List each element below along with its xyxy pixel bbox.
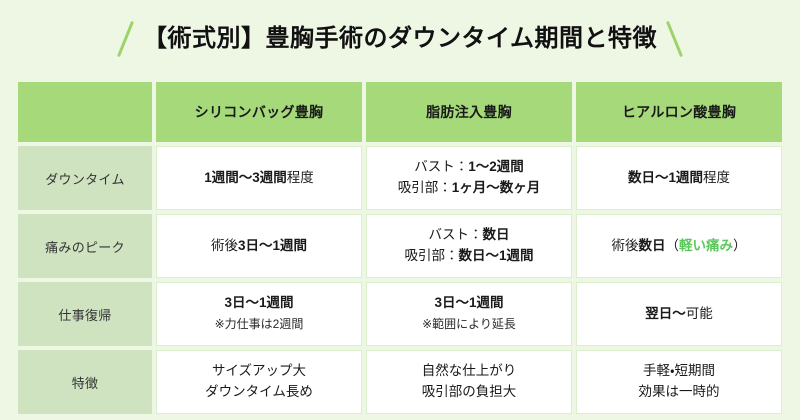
- column-header-2: 脂肪注入豊胸: [366, 82, 572, 142]
- cell-strong-text: 3日〜1週間: [434, 295, 503, 310]
- cell-note-text: ※範囲により延長: [422, 317, 516, 331]
- decorative-slash-left-icon: [117, 21, 134, 57]
- cell-line: ※範囲により延長: [367, 314, 571, 335]
- row-label-1: ダウンタイム: [18, 146, 152, 210]
- table-header: シリコンバッグ豊胸 脂肪注入豊胸 ヒアルロン酸豊胸: [18, 82, 782, 142]
- cell-line: 手軽・短期間: [577, 361, 781, 382]
- table-cell-r3-c1: 3日〜1週間※力仕事は2週間: [156, 282, 362, 346]
- cell-line: 翌日〜可能: [577, 304, 781, 325]
- cell-line: バスト：1〜2週間: [367, 157, 571, 178]
- cell-line: サイズアップ大: [157, 361, 361, 382]
- cell-plain-text: 程度: [287, 170, 314, 185]
- column-header-3: ヒアルロン酸豊胸: [576, 82, 782, 142]
- cell-strong-text: 数日〜1週間: [628, 170, 703, 185]
- cell-strong-text: 数日〜1週間: [458, 248, 533, 263]
- cell-plain-text: 程度: [703, 170, 730, 185]
- cell-strong-text: 数日: [639, 238, 666, 253]
- table-header-row: シリコンバッグ豊胸 脂肪注入豊胸 ヒアルロン酸豊胸: [18, 82, 782, 142]
- table-corner-cell: [18, 82, 152, 142]
- table-cell-r3-c3: 翌日〜可能: [576, 282, 782, 346]
- cell-line: ※力仕事は2週間: [157, 314, 361, 335]
- cell-line: 吸引部：数日〜1週間: [367, 246, 571, 267]
- cell-plain-text: 吸引部の負担大: [422, 384, 517, 399]
- table-cell-r1-c2: バスト：1〜2週間吸引部：1ヶ月〜数ヶ月: [366, 146, 572, 210]
- cell-strong-text: 3日〜1週間: [224, 295, 293, 310]
- comparison-table-wrapper: シリコンバッグ豊胸 脂肪注入豊胸 ヒアルロン酸豊胸 ダウンタイム1週間〜3週間程…: [14, 78, 786, 418]
- table-cell-r3-c2: 3日〜1週間※範囲により延長: [366, 282, 572, 346]
- table-cell-r4-c2: 自然な仕上がり吸引部の負担大: [366, 350, 572, 414]
- cell-lead-text: 術後: [211, 238, 238, 253]
- table-cell-r2-c2: バスト：数日吸引部：数日〜1週間: [366, 214, 572, 278]
- cell-lead-text: バスト：: [429, 227, 483, 242]
- cell-line: 術後数日（軽い痛み）: [577, 236, 781, 257]
- cell-strong-text: 数日: [483, 227, 510, 242]
- decorative-slash-right-icon: [666, 21, 683, 57]
- cell-strong-text: 1〜2週間: [468, 159, 524, 174]
- cell-strong-text: 翌日〜: [645, 306, 686, 321]
- cell-strong-text: 1週間〜3週間: [204, 170, 287, 185]
- cell-paren-close: ）: [733, 238, 747, 253]
- row-label-4: 特徴: [18, 350, 152, 414]
- cell-lead-text: 吸引部：: [404, 248, 458, 263]
- cell-accent-text: 軽い痛み: [679, 238, 733, 253]
- comparison-table: シリコンバッグ豊胸 脂肪注入豊胸 ヒアルロン酸豊胸 ダウンタイム1週間〜3週間程…: [14, 78, 786, 418]
- table-row: 痛みのピーク術後3日〜1週間バスト：数日吸引部：数日〜1週間術後数日（軽い痛み）: [18, 214, 782, 278]
- cell-plain-text: 自然な仕上がり: [422, 363, 517, 378]
- cell-plain-text: サイズアップ大: [212, 363, 306, 378]
- column-header-1: シリコンバッグ豊胸: [156, 82, 362, 142]
- cell-lead-text: 吸引部：: [398, 180, 452, 195]
- cell-line: ダウンタイム長め: [157, 382, 361, 403]
- table-cell-r2-c1: 術後3日〜1週間: [156, 214, 362, 278]
- row-label-3: 仕事復帰: [18, 282, 152, 346]
- cell-plain-text: 効果は一時的: [639, 384, 720, 399]
- cell-line: 3日〜1週間: [157, 293, 361, 314]
- cell-plain-text: 可能: [686, 306, 713, 321]
- cell-line: 吸引部：1ヶ月〜数ヶ月: [367, 178, 571, 199]
- cell-lead-text: バスト：: [414, 159, 468, 174]
- table-cell-r1-c3: 数日〜1週間程度: [576, 146, 782, 210]
- table-row: 特徴サイズアップ大ダウンタイム長め自然な仕上がり吸引部の負担大手軽・短期間効果は…: [18, 350, 782, 414]
- cell-strong-text: 3日〜1週間: [238, 238, 307, 253]
- table-row: 仕事復帰3日〜1週間※力仕事は2週間3日〜1週間※範囲により延長翌日〜可能: [18, 282, 782, 346]
- page-title-bar: 【術式別】豊胸手術のダウンタイム期間と特徴: [0, 0, 800, 78]
- cell-line: 吸引部の負担大: [367, 382, 571, 403]
- cell-line: 術後3日〜1週間: [157, 236, 361, 257]
- table-cell-r4-c1: サイズアップ大ダウンタイム長め: [156, 350, 362, 414]
- page-title: 【術式別】豊胸手術のダウンタイム期間と特徴: [143, 27, 657, 51]
- table-cell-r4-c3: 手軽・短期間効果は一時的: [576, 350, 782, 414]
- cell-line: 効果は一時的: [577, 382, 781, 403]
- cell-line: 1週間〜3週間程度: [157, 168, 361, 189]
- cell-line: バスト：数日: [367, 225, 571, 246]
- table-cell-r2-c3: 術後数日（軽い痛み）: [576, 214, 782, 278]
- cell-line: 数日〜1週間程度: [577, 168, 781, 189]
- cell-plain-text: ダウンタイム長め: [205, 384, 313, 399]
- cell-strong-text: 1ヶ月〜数ヶ月: [452, 180, 541, 195]
- cell-line: 自然な仕上がり: [367, 361, 571, 382]
- cell-line: 3日〜1週間: [367, 293, 571, 314]
- row-label-2: 痛みのピーク: [18, 214, 152, 278]
- table-body: ダウンタイム1週間〜3週間程度バスト：1〜2週間吸引部：1ヶ月〜数ヶ月数日〜1週…: [18, 146, 782, 414]
- table-cell-r1-c1: 1週間〜3週間程度: [156, 146, 362, 210]
- cell-paren-open: （: [666, 238, 680, 253]
- cell-note-text: ※力仕事は2週間: [215, 317, 304, 331]
- table-row: ダウンタイム1週間〜3週間程度バスト：1〜2週間吸引部：1ヶ月〜数ヶ月数日〜1週…: [18, 146, 782, 210]
- cell-plain-text: 手軽・短期間: [643, 363, 715, 378]
- cell-lead-text: 術後: [612, 238, 639, 253]
